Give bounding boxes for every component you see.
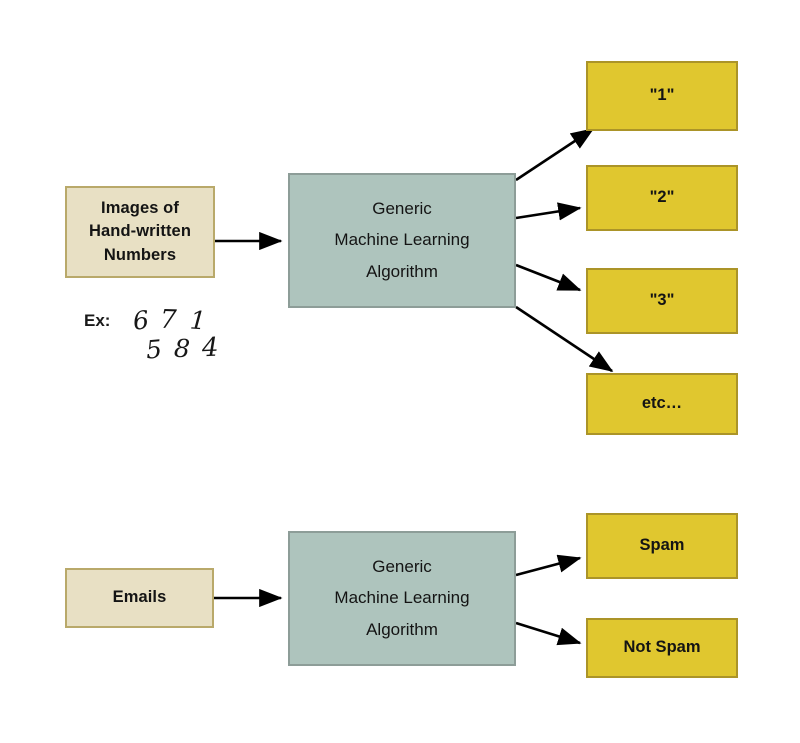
node-generic-machine-learning-algorithm-emails[interactable]: Generic Machine Learning Algorithm [288,531,516,666]
node-line: Generic [372,555,432,579]
handwritten-digit: 5 [145,336,163,362]
node-label: "3" [650,289,675,312]
handwritten-digit: 6 [132,307,150,334]
node-line: Emails [113,586,167,609]
arrow-algorithm-to-one [516,129,593,180]
node-line: Algorithm [366,618,438,642]
node-label: etc… [642,392,682,415]
node-line: Machine Learning [334,586,469,610]
handwritten-digit: 8 [173,336,190,362]
handwritten-digit: 4 [202,335,219,362]
node-output-spam[interactable]: Spam [586,513,738,579]
node-line: Hand-written [89,220,191,243]
node-line: Generic [372,197,432,221]
node-line: Machine Learning [334,228,469,252]
arrow-algorithm-to-two [516,208,580,218]
node-output-one[interactable]: "1" [586,61,738,131]
example-label: Ex: [84,311,110,331]
node-label: Spam [640,534,685,557]
arrow-algorithm-to-not-spam [516,623,580,643]
diagram-canvas: Images of Hand-written Numbers Ex: 6 7 1… [0,0,800,743]
arrow-algorithm-to-spam [516,558,580,575]
node-label: "2" [650,186,675,209]
node-emails[interactable]: Emails [65,568,214,628]
node-line: Algorithm [366,260,438,284]
handwritten-digit: 7 [160,307,177,334]
handwritten-digit: 1 [189,307,207,333]
handwritten-digit-examples: 6 7 1 5 8 4 [130,306,235,368]
node-label: Not Spam [623,636,700,659]
node-output-two[interactable]: "2" [586,165,738,231]
node-output-three[interactable]: "3" [586,268,738,334]
node-label: "1" [650,84,675,107]
node-line: Images of [101,197,179,220]
node-generic-machine-learning-algorithm-digits[interactable]: Generic Machine Learning Algorithm [288,173,516,308]
node-images-of-handwritten-numbers[interactable]: Images of Hand-written Numbers [65,186,215,278]
node-line: Numbers [104,244,176,267]
arrow-algorithm-to-three [516,265,580,290]
node-output-etc[interactable]: etc… [586,373,738,435]
node-output-not-spam[interactable]: Not Spam [586,618,738,678]
